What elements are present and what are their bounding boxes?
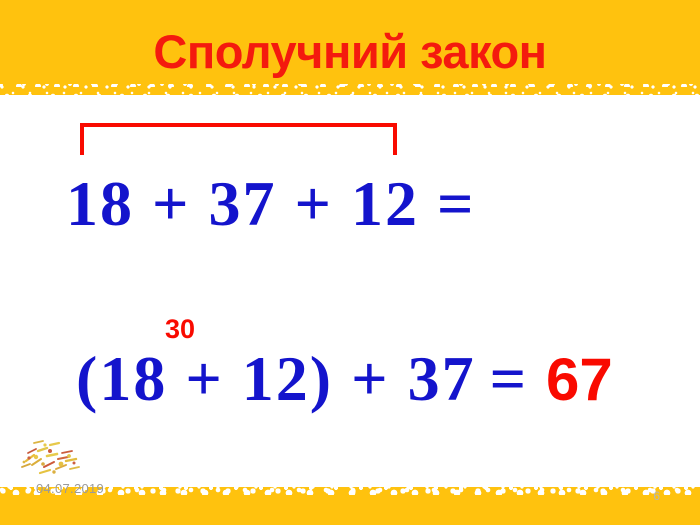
equation-two-expression: (18 + 12) + 37	[76, 343, 476, 414]
slide-canvas: Сполучний закон 18 + 37 + 12 = 30 (18 + …	[0, 0, 700, 525]
equation-two: (18 + 12) + 37= 67	[76, 343, 613, 416]
date-stamp: 04.07.2019	[36, 481, 104, 496]
grouping-bracket-icon	[80, 123, 397, 155]
top-band-edge-fill	[0, 95, 700, 105]
bottom-band-torn-edge	[0, 477, 700, 495]
page-number: 6	[653, 489, 660, 503]
confetti-splatter-icon	[14, 431, 94, 483]
equation-two-answer: 67	[546, 346, 613, 413]
equation-one: 18 + 37 + 12 =	[66, 168, 475, 240]
sum-hint-30: 30	[165, 316, 195, 343]
equation-two-equals-sign: =	[490, 343, 528, 414]
page-title: Сполучний закон	[0, 26, 700, 78]
